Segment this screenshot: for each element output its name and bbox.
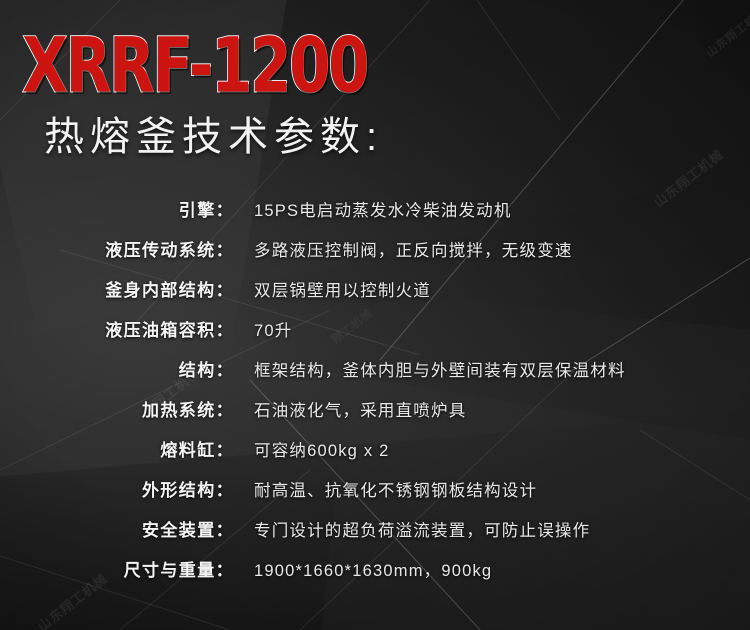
spec-row: 液压传动系统：多路液压控制阀，正反向搅拌，无级变速: [0, 236, 750, 276]
product-spec-poster: 山东翔工机械 翔工机械 山东翔工机械 山东翔工机械 翔工机械 XRRF-1200…: [0, 0, 750, 630]
spec-row: 外形结构：耐高温、抗氧化不锈钢钢板结构设计: [0, 476, 750, 516]
spec-value: 框架结构，釜体内胆与外壁间装有双层保温材料: [234, 357, 626, 381]
spec-value: 多路液压控制阀，正反向搅拌，无级变速: [234, 237, 573, 261]
product-model-title: XRRF-1200: [22, 28, 367, 104]
spec-label: 加热系统：: [0, 396, 234, 421]
spec-value: 可容纳600kg x 2: [234, 437, 389, 461]
spec-label: 结构：: [0, 356, 234, 381]
spec-value: 专门设计的超负荷溢流装置，可防止误操作: [234, 517, 590, 541]
page-subtitle: 热熔釜技术参数:: [44, 117, 383, 157]
spec-label: 外形结构：: [0, 476, 234, 501]
spec-row: 加热系统：石油液化气，采用直喷炉具: [0, 396, 750, 436]
spec-value: 1900*1660*1630mm，900kg: [234, 557, 492, 581]
spec-label: 尺寸与重量：: [0, 556, 234, 581]
spec-label: 液压油箱容积：: [0, 316, 234, 341]
spec-value: 耐高温、抗氧化不锈钢钢板结构设计: [234, 477, 537, 501]
spec-value: 15PS电启动蒸发水冷柴油发动机: [234, 197, 512, 221]
spec-row: 釜身内部结构：双层锅壁用以控制火道: [0, 276, 750, 316]
spec-label: 熔料缸：: [0, 436, 234, 461]
spec-value: 70升: [234, 317, 292, 341]
spec-row: 安全装置：专门设计的超负荷溢流装置，可防止误操作: [0, 516, 750, 556]
spec-row: 尺寸与重量：1900*1660*1630mm，900kg: [0, 556, 750, 596]
spec-label: 液压传动系统：: [0, 236, 234, 261]
spec-label: 釜身内部结构：: [0, 276, 234, 301]
spec-value: 双层锅壁用以控制火道: [234, 277, 431, 301]
spec-value: 石油液化气，采用直喷炉具: [234, 397, 466, 421]
spec-row: 引擎：15PS电启动蒸发水冷柴油发动机: [0, 196, 750, 236]
spec-table: 引擎：15PS电启动蒸发水冷柴油发动机液压传动系统：多路液压控制阀，正反向搅拌，…: [0, 196, 750, 596]
spec-label: 引擎：: [0, 196, 234, 221]
spec-row: 结构：框架结构，釜体内胆与外壁间装有双层保温材料: [0, 356, 750, 396]
spec-label: 安全装置：: [0, 516, 234, 541]
spec-row: 液压油箱容积：70升: [0, 316, 750, 356]
spec-row: 熔料缸：可容纳600kg x 2: [0, 436, 750, 476]
